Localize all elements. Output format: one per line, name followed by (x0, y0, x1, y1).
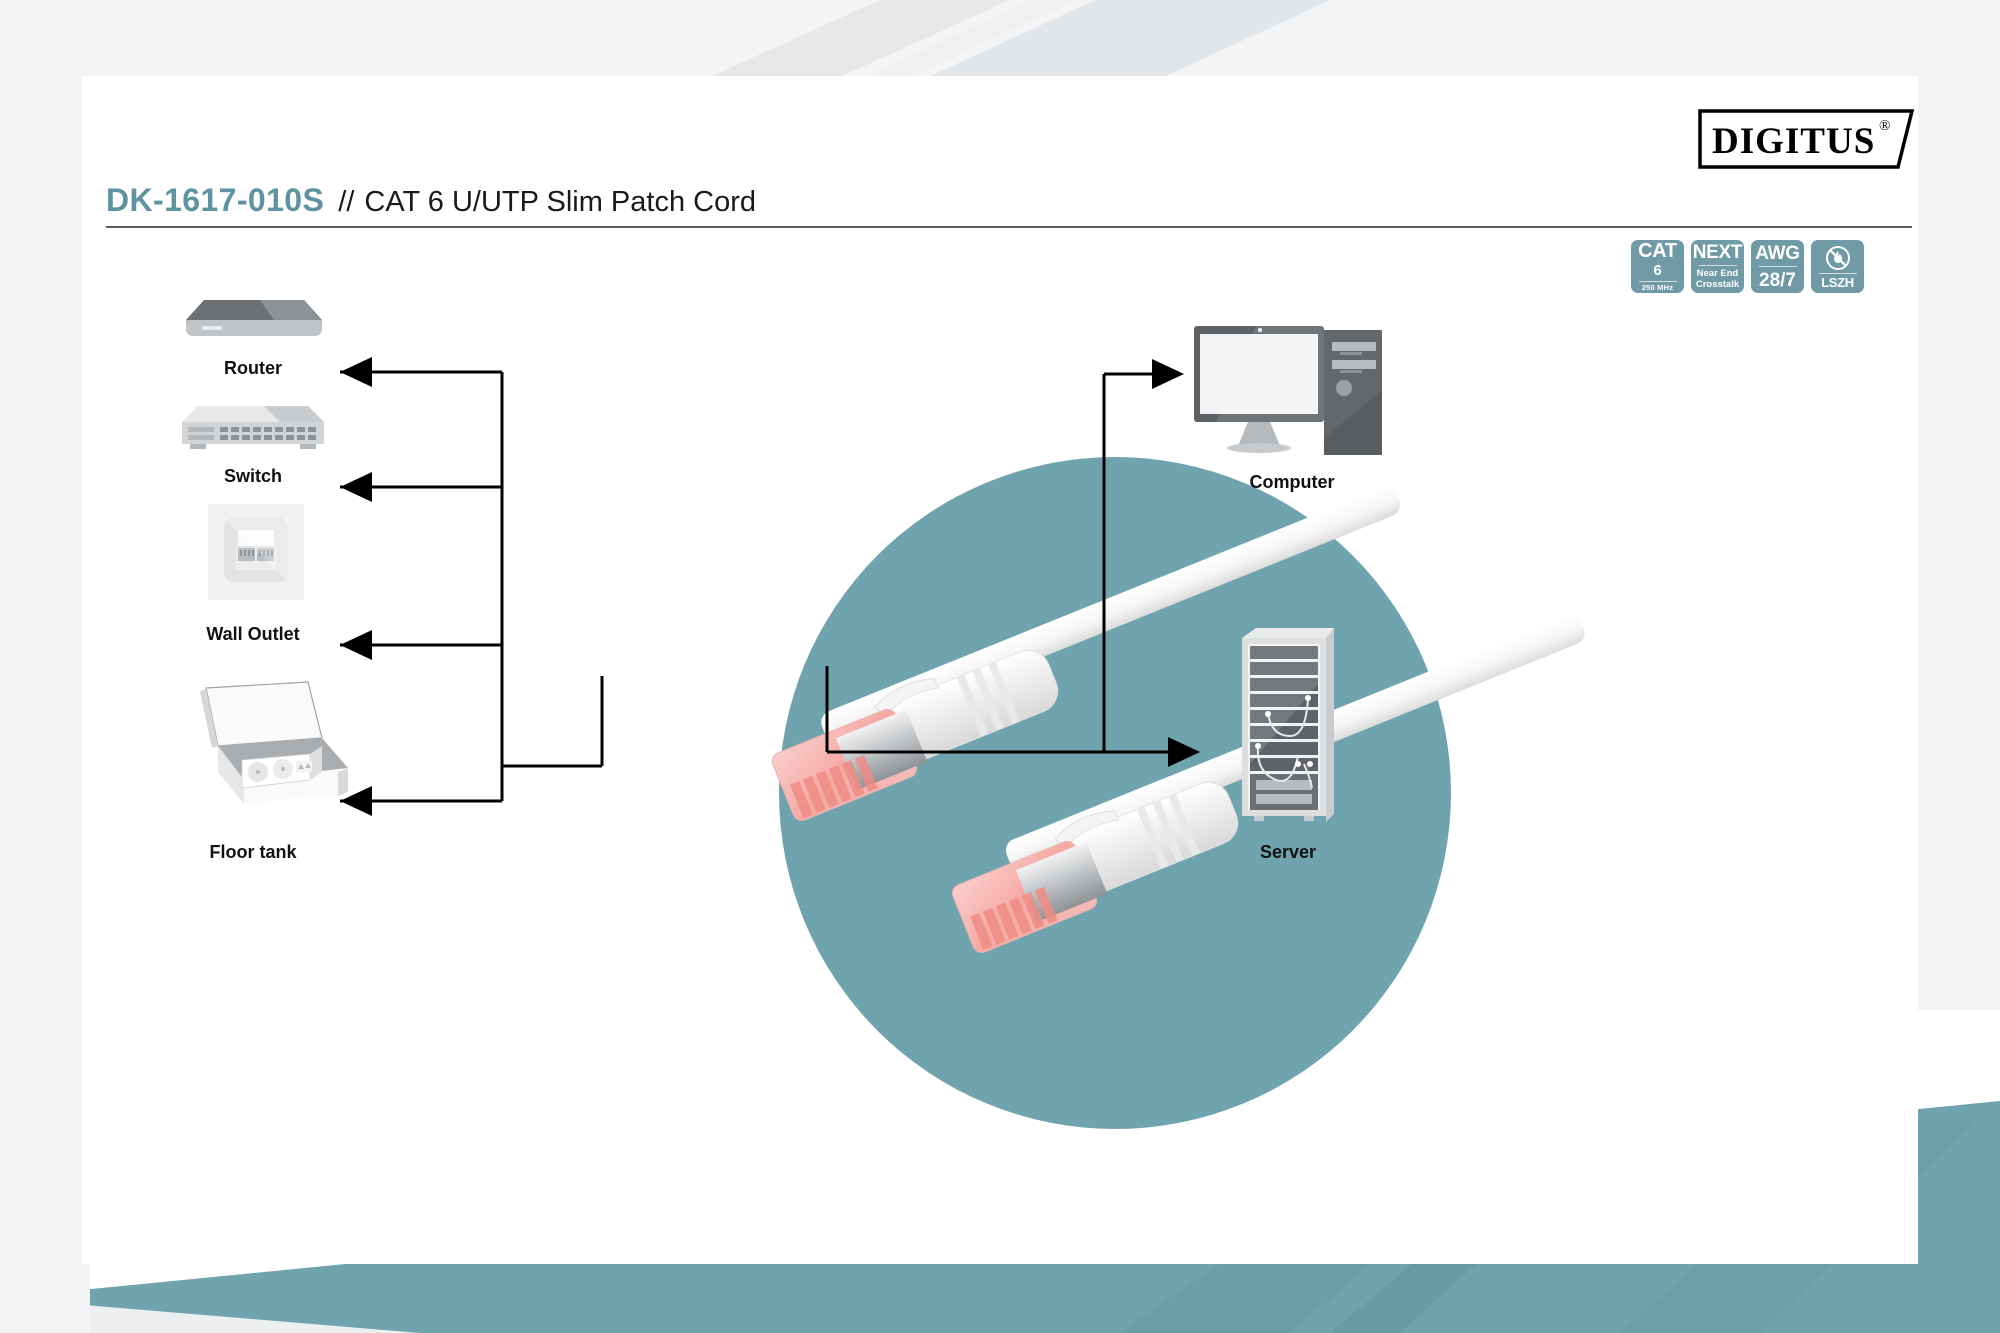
router-icon (178, 290, 328, 345)
computer-label: Computer (1172, 472, 1412, 493)
computer-icon (1190, 320, 1392, 460)
background-left-band (0, 0, 90, 1333)
server-label: Server (1168, 842, 1408, 863)
network-diagram: Router (82, 76, 1918, 1264)
floor-tank-icon (188, 676, 368, 816)
floor-tank-label: Floor tank (138, 842, 368, 863)
server-icon (1234, 624, 1342, 824)
connector-lines-right (82, 76, 1918, 1264)
datasheet-page: DIGITUS ® DK-1617-010S//CAT 6 U/UTP Slim… (0, 0, 2000, 1333)
router-label: Router (138, 358, 368, 379)
switch-icon (178, 398, 328, 456)
background-right-band (1910, 0, 2000, 1010)
wall-outlet-icon (208, 504, 304, 600)
switch-label: Switch (138, 466, 368, 487)
wall-outlet-label: Wall Outlet (138, 624, 368, 645)
